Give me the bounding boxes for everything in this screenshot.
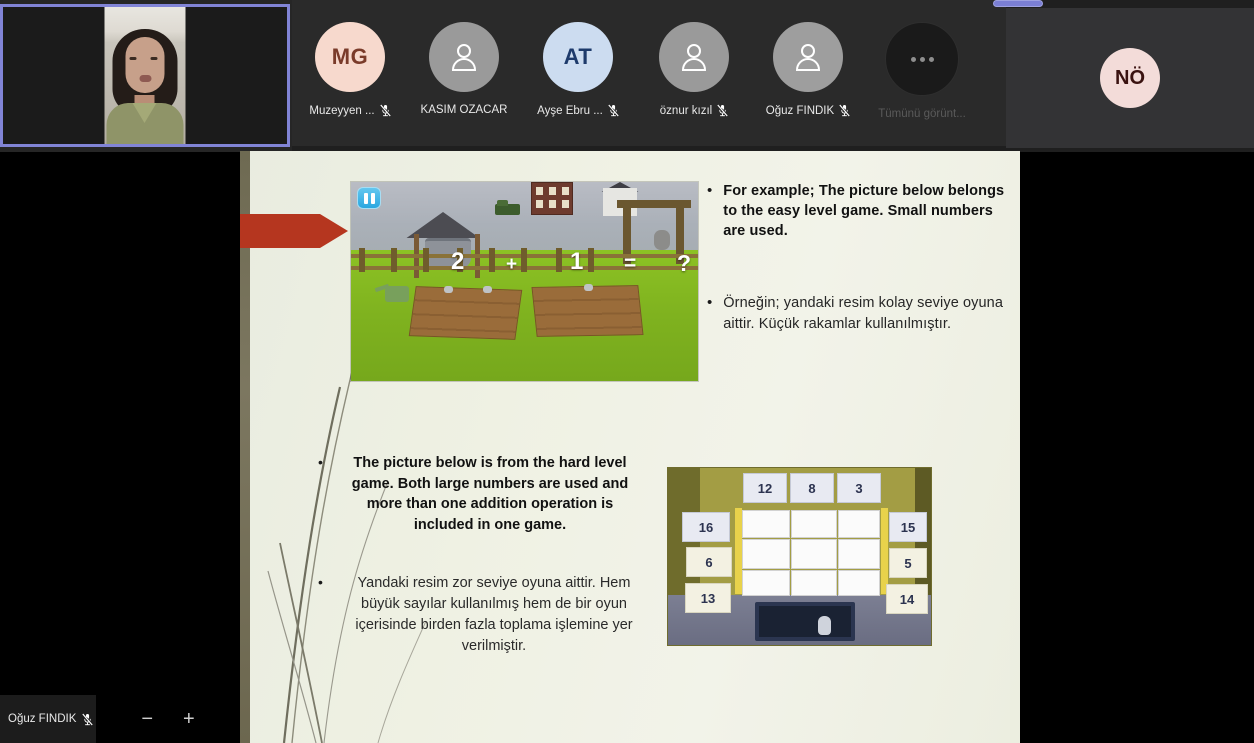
participant-name-0: Muzeyyen ...: [309, 105, 374, 117]
game-bird: [654, 230, 670, 250]
game-fence-post-5: [489, 248, 495, 272]
participant-name-row-4: Oğuz FINDIK: [766, 104, 850, 117]
window-b: [549, 187, 556, 195]
game-truck-cab: [497, 200, 508, 206]
participant-filmstrip: MG Muzeyyen ...: [0, 0, 1254, 152]
photo-dotcard-r1c1: [742, 510, 790, 538]
window-a: [536, 187, 543, 195]
more-dots-icon: [885, 22, 959, 96]
photo-left-card-2: 6: [686, 547, 732, 577]
zoom-level-controls: − +: [96, 695, 240, 743]
self-webcam-feed: [105, 7, 186, 144]
bullet-text-tr-2: Yandaki resim zor seviye oyuna aittir. H…: [318, 573, 648, 657]
avatar-eye-left: [130, 57, 137, 60]
participant-name-row-1: KASIM ÖZACAR: [421, 104, 508, 116]
avatar-face: [126, 37, 165, 93]
self-name-label: Oğuz FINDIK: [8, 713, 76, 725]
red-arrow-pointer: [240, 206, 348, 256]
photo-tablet: [755, 602, 855, 641]
dot-3: [929, 57, 934, 62]
zoom-meeting-window: MG Muzeyyen ...: [0, 0, 1254, 743]
game-fence-post-2: [391, 248, 397, 272]
participant-tile-1[interactable]: KASIM ÖZACAR: [408, 22, 520, 142]
mic-muted-icon-4: [839, 104, 850, 117]
bullet-tr-2: • Yandaki resim zor seviye oyuna aittir.…: [318, 573, 648, 657]
bullet-text-en-2: The picture below is from the hard level…: [318, 453, 648, 535]
bullet-marker-en-2: •: [318, 454, 323, 470]
window-d: [536, 200, 543, 208]
dot-2: [920, 57, 925, 62]
avatar-mouth: [140, 75, 152, 82]
hard-level-game-photo: 12 8 3 16 6 13 15 5 14: [667, 467, 932, 646]
zoom-out-button[interactable]: −: [141, 709, 153, 729]
game-fence-post-7: [556, 248, 562, 272]
game-house-brick: [531, 182, 573, 215]
participant-name-row-0: Muzeyyen ...: [309, 104, 390, 117]
game-nail-3: [584, 284, 593, 291]
participant-avatars-row: MG Muzeyyen ...: [292, 0, 1006, 146]
pause-bar-1: [364, 193, 368, 204]
photo-yellow-strip-left: [735, 508, 742, 594]
photo-dotcard-r1c3: [838, 510, 880, 538]
dot-1: [911, 57, 916, 62]
bullet-text-en-1: For example; The picture below belongs t…: [723, 181, 1007, 241]
game-plank-right: [531, 285, 643, 337]
game-operand-a: 2: [451, 248, 464, 276]
game-equals-sign: =: [624, 252, 636, 276]
person-icon-4: [791, 40, 825, 74]
game-nail-1: [444, 286, 453, 293]
person-icon-1: [447, 40, 481, 74]
photo-dotcard-r1c2: [791, 510, 837, 538]
photo-dotcard-r2c2: [791, 539, 837, 569]
participant-avatar-0: MG: [315, 22, 385, 92]
photo-dotcard-r3c1: [742, 570, 790, 596]
game-operator: +: [506, 254, 517, 276]
participant-avatar-2: AT: [543, 22, 613, 92]
participant-avatar-3: [659, 22, 729, 92]
participant-name-4: Oğuz FINDIK: [766, 105, 834, 117]
avatar-initials-0: MG: [332, 44, 368, 70]
active-speaker-indicator-bar: [993, 0, 1043, 7]
mic-muted-icon-2: [608, 104, 619, 117]
view-all-label: Tümünü görünt...: [878, 108, 966, 120]
stage-letterbox-left: [95, 152, 240, 743]
game-watering-can: [385, 286, 409, 302]
photo-right-card-3: 14: [886, 584, 928, 614]
bullet-marker-tr-1: •: [707, 293, 712, 334]
participant-tile-4[interactable]: Oğuz FINDIK: [752, 22, 864, 142]
participant-name-1: KASIM ÖZACAR: [421, 104, 508, 116]
participant-name-row-3: öznur kızıl: [660, 104, 728, 117]
shared-screen-stage: 2 + 1 = ? •: [0, 152, 1254, 743]
zoom-in-button[interactable]: +: [183, 709, 195, 729]
photo-dotcard-r2c1: [742, 539, 790, 569]
easy-level-game-screenshot: 2 + 1 = ?: [351, 182, 698, 381]
game-result-placeholder: ?: [677, 250, 691, 277]
self-name-tag: Oğuz FINDIK: [0, 695, 96, 743]
bullet-marker-en-1: •: [707, 181, 712, 241]
photo-top-card-2: 8: [790, 473, 834, 503]
game-plank-left: [409, 286, 523, 340]
game-fence-post-1: [359, 248, 365, 272]
self-video-tile[interactable]: [0, 4, 290, 147]
participant-avatar-4: [773, 22, 843, 92]
participant-avatar-1: [429, 22, 499, 92]
game-operand-b: 1: [570, 248, 583, 276]
photo-left-card-1: 16: [682, 512, 730, 542]
photo-yellow-strip-right: [881, 508, 888, 594]
mic-muted-icon-3: [717, 104, 728, 117]
bullet-en-1: • For example; The picture below belongs…: [707, 181, 1007, 241]
photo-dotcard-r3c2: [791, 570, 837, 596]
window-f: [562, 200, 569, 208]
game-fence-post-3: [423, 248, 429, 272]
spotlight-initials: NÖ: [1115, 67, 1145, 90]
participant-name-row-2: Ayşe Ebru ...: [537, 104, 619, 117]
participant-tile-0[interactable]: MG Muzeyyen ...: [294, 22, 406, 142]
avatar-eye-right: [151, 57, 158, 60]
window-e: [549, 200, 556, 208]
person-icon-3: [677, 40, 711, 74]
presentation-slide[interactable]: 2 + 1 = ? •: [240, 151, 1020, 743]
photo-dotcard-r3c3: [838, 570, 880, 596]
spotlight-avatar: NÖ: [1100, 48, 1160, 108]
pause-icon[interactable]: [357, 187, 381, 209]
bullet-en-2: • The picture below is from the hard lev…: [318, 453, 648, 535]
view-all-label-row: Tümünü görünt...: [878, 108, 966, 120]
window-c: [562, 187, 569, 195]
game-fence-post-6: [521, 248, 527, 272]
spotlight-participant-tile[interactable]: NÖ: [1006, 8, 1254, 148]
game-fence-post-8: [588, 248, 594, 272]
participant-tile-2[interactable]: AT Ayşe Ebru ...: [522, 22, 634, 142]
photo-top-card-3: 3: [837, 473, 881, 503]
photo-dotcard-r2c3: [838, 539, 880, 569]
photo-right-card-1: 15: [889, 512, 927, 542]
view-all-participants-button[interactable]: Tümünü görünt...: [866, 22, 978, 142]
photo-right-card-2: 5: [889, 548, 927, 578]
mic-muted-icon-self: [82, 713, 93, 726]
bullet-text-tr-1: Örneğin; yandaki resim kolay seviye oyun…: [723, 293, 1007, 334]
mic-muted-icon-0: [380, 104, 391, 117]
pause-bar-2: [371, 193, 375, 204]
photo-left-card-3: 13: [685, 583, 731, 613]
participant-name-3: öznur kızıl: [660, 105, 712, 117]
participant-name-2: Ayşe Ebru ...: [537, 105, 603, 117]
game-sky: [351, 182, 698, 254]
avatar-initials-2: AT: [564, 44, 593, 70]
photo-owl-figure: [818, 616, 831, 635]
bullet-tr-1: • Örneğin; yandaki resim kolay seviye oy…: [707, 293, 1007, 334]
photo-top-card-1: 12: [743, 473, 787, 503]
slide-right-text-block: • For example; The picture below belongs…: [707, 181, 1007, 334]
game-nail-2: [483, 286, 492, 293]
participant-tile-3[interactable]: öznur kızıl: [638, 22, 750, 142]
slide-lower-text-block: • The picture below is from the hard lev…: [318, 453, 648, 657]
bullet-marker-tr-2: •: [318, 574, 323, 590]
